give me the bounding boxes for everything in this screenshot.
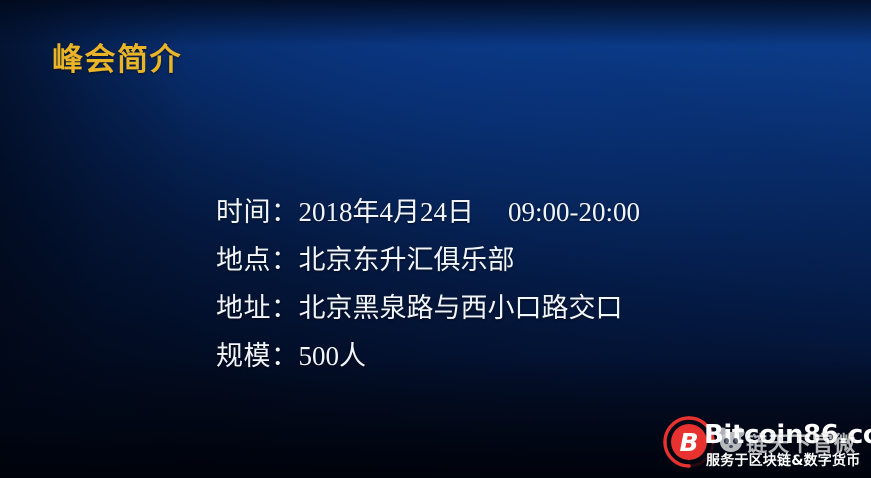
detail-value-time-range: 09:00-20:00 (508, 197, 640, 227)
detail-value-venue: 北京东升汇俱乐部 (299, 245, 515, 275)
detail-row-address: 地址：北京黑泉路与西小口路交口 (216, 284, 640, 332)
watermark-cluster: B Bitcoin86.com 服务于区块链&数字货币 链天下官微 (658, 408, 866, 476)
detail-label-venue: 地点： (216, 245, 299, 275)
watermark-overlay-group: 链天下官微 (716, 422, 866, 466)
detail-row-venue: 地点：北京东升汇俱乐部 (216, 236, 640, 284)
panda-face-icon (716, 426, 746, 454)
detail-value-scale: 500人 (299, 341, 367, 371)
detail-label-time: 时间： (216, 197, 299, 227)
detail-value-time: 2018年4月24日 (299, 197, 475, 227)
bitcoin-b-symbol: B (671, 424, 707, 460)
summit-details-list: 时间：2018年4月24日09:00-20:00 地点：北京东升汇俱乐部 地址：… (216, 188, 640, 380)
watermark-overlay-label: 链天下官微 (746, 434, 856, 455)
presentation-slide: 峰会简介 时间：2018年4月24日09:00-20:00 地点：北京东升汇俱乐… (0, 0, 871, 478)
detail-value-address: 北京黑泉路与西小口路交口 (299, 293, 623, 323)
detail-label-scale: 规模： (216, 341, 299, 371)
detail-row-time: 时间：2018年4月24日09:00-20:00 (216, 188, 640, 236)
detail-row-scale: 规模：500人 (216, 332, 640, 380)
detail-label-address: 地址： (216, 293, 299, 323)
slide-title: 峰会简介 (52, 42, 182, 79)
